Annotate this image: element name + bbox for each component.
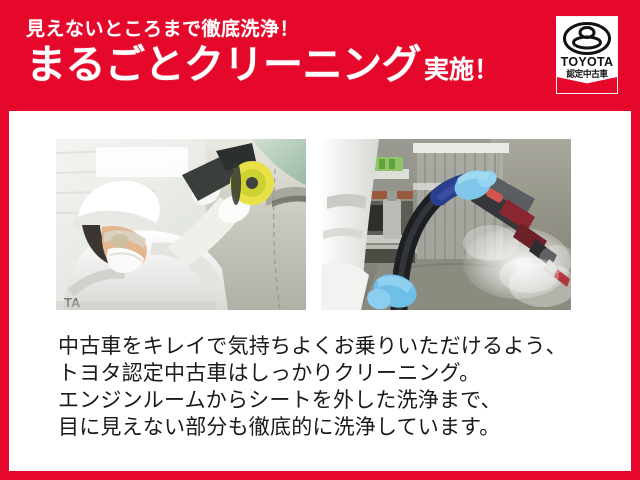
toyota-wordmark: TOYOTA (557, 56, 617, 69)
main-headline-suffix: 実施！ (424, 58, 499, 85)
promo-banner: 見えないところまで徹底洗浄！ まるごとクリーニング 実施！ TOYOTA 認定中… (0, 0, 640, 480)
body-copy-line-2: トヨタ認定中古車はしっかりクリーニング。 (58, 360, 598, 387)
body-copy-line-4: 目に見えない部分も徹底的に洗浄しています。 (58, 414, 598, 441)
body-copy-line-3: エンジンルームからシートを外した洗浄まで、 (58, 387, 598, 414)
photo-exterior-polishing: TA (56, 139, 306, 310)
headline-block: 見えないところまで徹底洗浄！ まるごとクリーニング 実施！ (26, 20, 526, 85)
main-headline: まるごとクリーニング (26, 45, 421, 85)
content-panel: TA (9, 111, 631, 471)
photo-row: TA (56, 139, 572, 310)
photo-seat-steam-cleaning (321, 139, 571, 310)
toyota-certified-logo: TOYOTA 認定中古車 (556, 16, 618, 94)
subheadline: 見えないところまで徹底洗浄！ (26, 20, 526, 39)
headline-row: まるごとクリーニング 実施！ (26, 45, 526, 85)
logo-chevron-band (557, 77, 617, 93)
body-copy: 中古車をキレイで気持ちよくお乗りいただけるよう、 トヨタ認定中古車はしっかりクリ… (58, 333, 598, 441)
toyota-ellipse-icon (563, 22, 611, 55)
body-copy-line-1: 中古車をキレイで気持ちよくお乗りいただけるよう、 (58, 333, 598, 360)
banner-header: 見えないところまで徹底洗浄！ まるごとクリーニング 実施！ TOYOTA 認定中… (0, 0, 640, 111)
certified-used-car-label: 認定中古車 (558, 70, 616, 79)
